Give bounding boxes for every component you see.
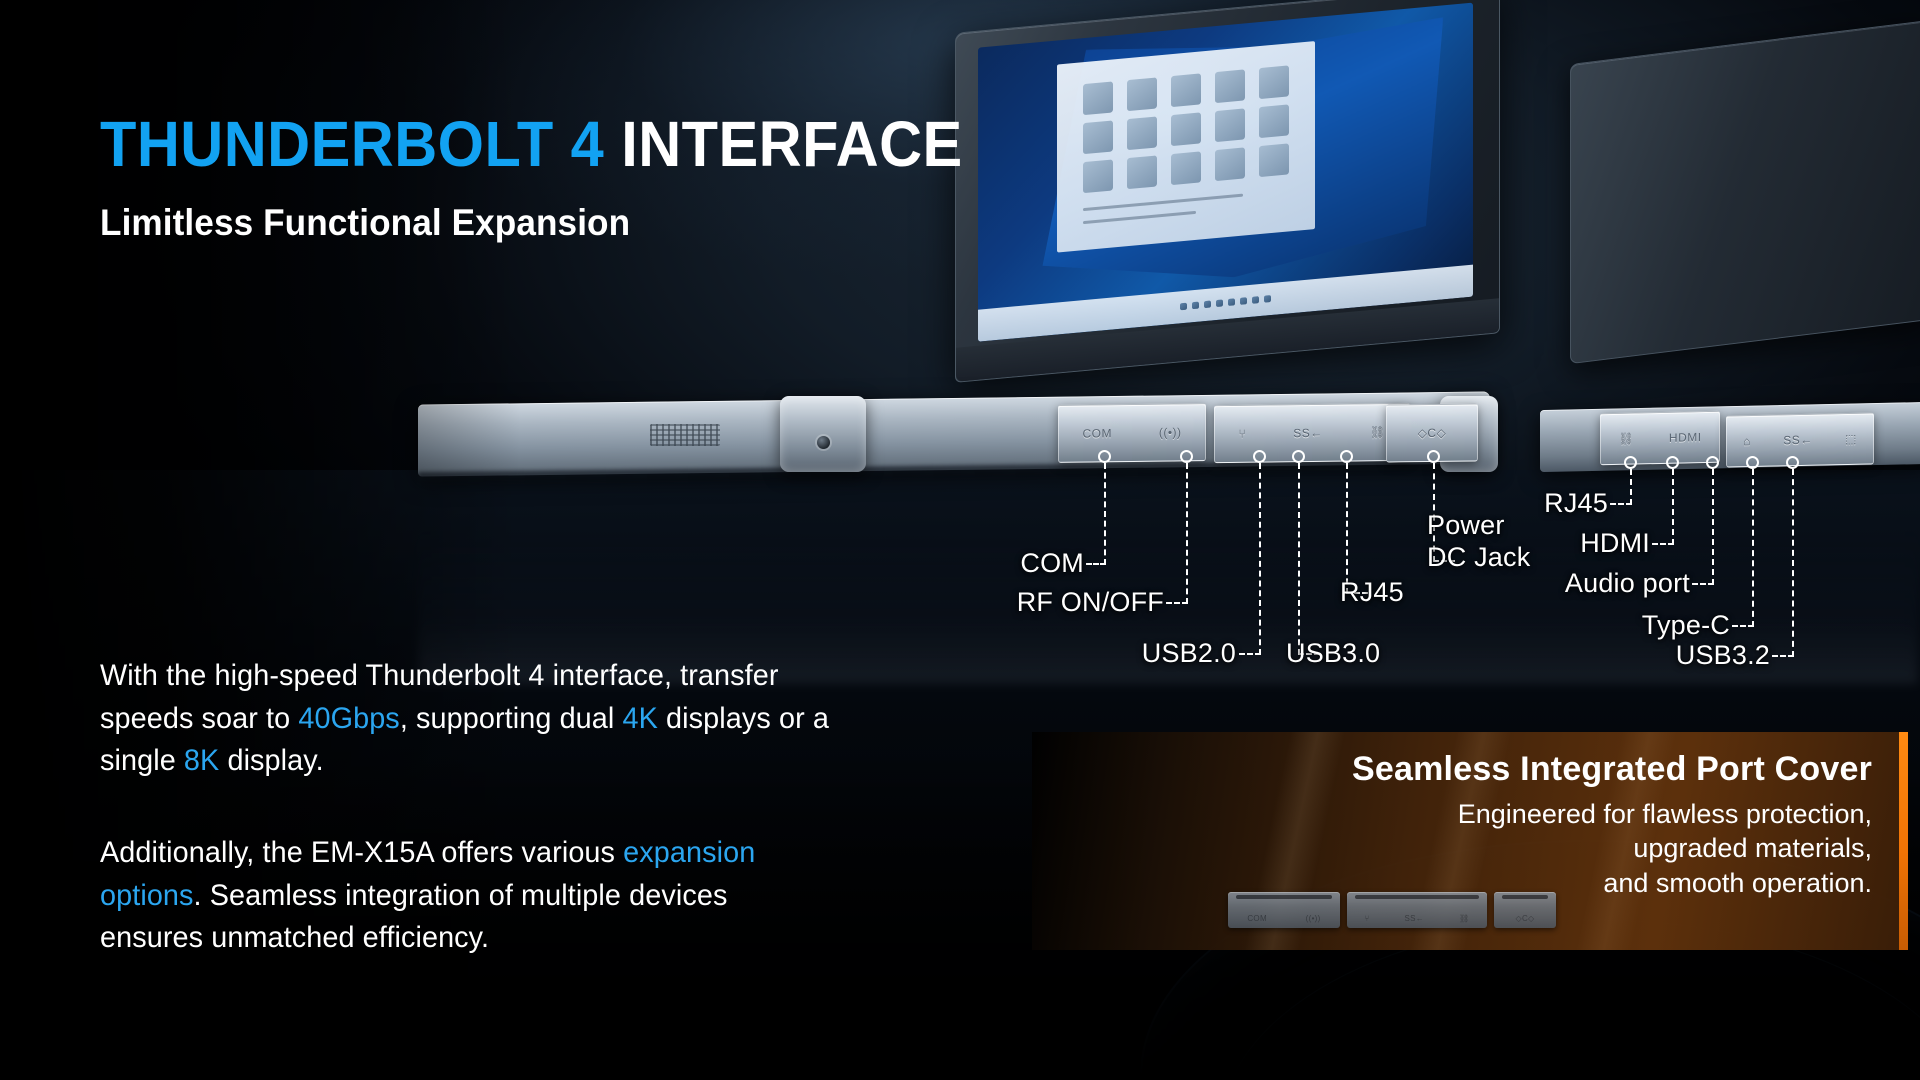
cover-b-glyph-lan: ⛓ — [1459, 914, 1469, 923]
port-cover-a: COM ((•)) — [1228, 892, 1340, 928]
leader-elbow-usb32 — [1772, 655, 1794, 657]
leader-elbow-rf — [1166, 602, 1188, 604]
port-label-hdmi: HDMI — [1440, 528, 1650, 559]
leader-elbow-rj45-right — [1610, 503, 1632, 505]
ethernet-icon: ⛓ — [1370, 425, 1386, 439]
callout-dot-hdmi — [1666, 456, 1679, 469]
headline-block: THUNDERBOLT 4 INTERFACE Limitless Functi… — [100, 112, 1028, 244]
usb-icon: ⑂ — [1239, 427, 1247, 441]
para2-seg1: Additionally, the EM-X15A offers various — [100, 836, 623, 869]
para1-seg2: , supporting dual — [400, 702, 623, 735]
leader-line-usb30 — [1298, 463, 1300, 655]
usb-superspeed-icon: SS← — [1783, 433, 1813, 448]
cover-b-glyph-ss: SS← — [1405, 914, 1425, 923]
panel-text-line — [1083, 211, 1196, 224]
callout-dot-typec — [1746, 456, 1759, 469]
panel-accent-bar — [1899, 732, 1908, 950]
page-title: THUNDERBOLT 4 INTERFACE — [100, 112, 963, 176]
leader-elbow-typec — [1732, 625, 1754, 627]
callout-dot-rj45-right — [1624, 456, 1637, 469]
leader-elbow-hdmi — [1652, 543, 1674, 545]
hinge-screw-icon — [817, 436, 830, 449]
secondary-laptop-lid — [1570, 20, 1920, 364]
audio-icon: ⌂ — [1743, 434, 1751, 448]
hdmi-icon: HDMI — [1669, 430, 1702, 445]
panel-line-3: and smooth operation. — [1352, 866, 1872, 900]
cover-a-glyph-rf: ((•)) — [1306, 914, 1321, 923]
panel-text-line — [1083, 194, 1243, 212]
windows-start-panel — [1057, 41, 1314, 253]
leader-elbow-usb20 — [1239, 653, 1261, 655]
panel-line-2: upgraded materials, — [1352, 831, 1872, 865]
ethernet-icon: ⛓ — [1618, 432, 1634, 446]
chassis-hinge-left — [780, 396, 866, 472]
para1-highlight-8k: 8K — [184, 744, 219, 777]
port-label-usb30: USB3.0 — [1286, 638, 1380, 669]
panel-text-block: Seamless Integrated Port Cover Engineere… — [1352, 750, 1872, 900]
leader-line-audio — [1712, 469, 1714, 585]
leader-elbow-com — [1086, 563, 1106, 565]
port-label-rj45-right: RJ45 — [1418, 488, 1608, 519]
usb-superspeed-icon: SS← — [1293, 426, 1323, 440]
leader-line-typec — [1752, 469, 1754, 627]
callout-dot-audio — [1706, 456, 1719, 469]
leader-line-hdmi — [1672, 469, 1674, 545]
typec-icon: ⬚ — [1845, 432, 1857, 446]
port-label-typec: Type-C — [1520, 610, 1730, 641]
rf-antenna-icon: ((•)) — [1159, 425, 1182, 439]
leader-line-rf — [1186, 463, 1188, 604]
port-door-hdmi: ⛓ HDMI — [1600, 411, 1720, 466]
com-port-glyph: COM — [1082, 426, 1112, 440]
cover-a-glyph-com: COM — [1247, 914, 1267, 923]
callout-dot-rj45-mid — [1340, 450, 1353, 463]
callout-dot-rf — [1180, 450, 1193, 463]
panel-line-1: Engineered for flawless protection, — [1352, 797, 1872, 831]
start-icon-grid — [1083, 66, 1289, 194]
port-door-usb: ⑂ SS← ⛓ — [1214, 403, 1410, 463]
body-paragraph-1: With the high-speed Thunderbolt 4 interf… — [100, 655, 830, 783]
port-label-rf-onoff: RF ON/OFF — [876, 587, 1164, 618]
leader-line-com — [1104, 463, 1106, 565]
title-accent: THUNDERBOLT 4 — [100, 108, 604, 180]
port-label-usb32: USB3.2 — [1552, 640, 1770, 671]
page-subtitle: Limitless Functional Expansion — [100, 202, 981, 244]
leader-line-rj45-mid — [1346, 463, 1348, 594]
callout-dot-usb20 — [1253, 450, 1266, 463]
cover-b-glyph-usb: ⑂ — [1364, 914, 1369, 923]
leader-line-rj45-right — [1630, 469, 1632, 505]
laptop-lid — [955, 0, 1500, 383]
title-plain: INTERFACE — [621, 108, 962, 180]
cover-c-glyph-dc: ◇C◇ — [1516, 914, 1535, 923]
panel-title: Seamless Integrated Port Cover — [1352, 750, 1872, 789]
port-label-rj45-mid: RJ45 — [1340, 577, 1404, 608]
laptop-screen — [978, 3, 1473, 342]
marketing-slide: COM ((•)) ⑂ SS← ⛓ ◇C◇ ⛓ HDMI ⌂ SS← ⬚ COM… — [0, 0, 1920, 1080]
body-paragraph-2: Additionally, the EM-X15A offers various… — [100, 832, 830, 960]
port-label-audio-port: Audio port — [1420, 568, 1690, 599]
para1-highlight-4k: 4K — [623, 702, 658, 735]
callout-dot-usb30 — [1292, 450, 1305, 463]
para1-seg4: display. — [219, 744, 323, 777]
port-label-com: COM — [916, 548, 1084, 579]
callout-dot-com — [1098, 450, 1111, 463]
para1-highlight-40gbps: 40Gbps — [298, 702, 399, 735]
leader-elbow-audio — [1692, 583, 1714, 585]
callout-dot-usb32 — [1786, 456, 1799, 469]
port-cover-callout-panel: COM ((•)) ⑂ SS← ⛓ ◇C◇ Seamless Integrate… — [1032, 732, 1908, 950]
para2-seg2: . Seamless integration of multiple devic… — [100, 879, 727, 955]
port-label-usb20: USB2.0 — [1000, 638, 1236, 669]
leader-line-usb32 — [1792, 469, 1794, 657]
chassis-vent — [650, 424, 720, 446]
dc-jack-icon: ◇C◇ — [1418, 426, 1447, 440]
leader-line-usb20 — [1259, 463, 1261, 655]
callout-dot-power — [1427, 450, 1440, 463]
